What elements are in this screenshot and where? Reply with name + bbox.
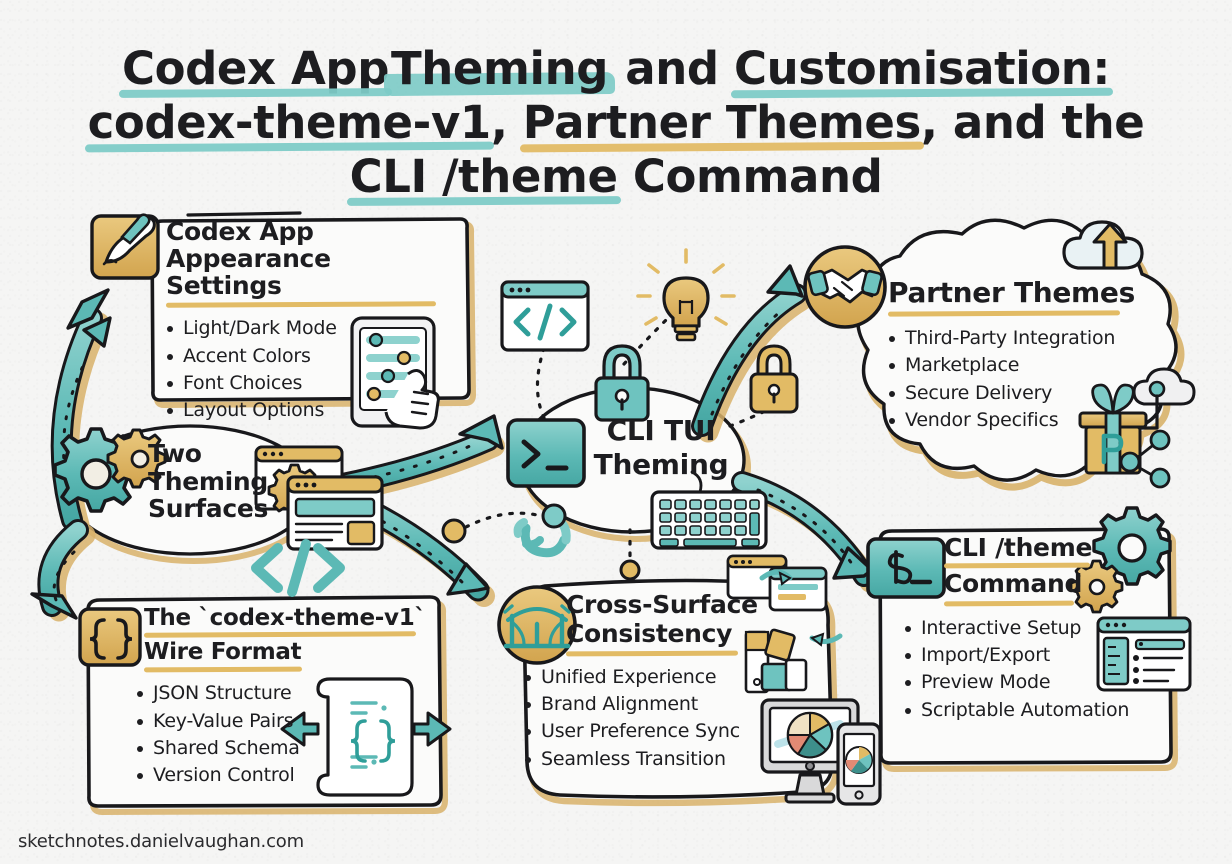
bridge-icon (499, 587, 575, 663)
cross-surface-bullets: Unified Experience Brand Alignment User … (524, 664, 816, 773)
partner-themes-node[interactable]: Partner Themes Third-Party Integration M… (888, 278, 1152, 434)
cli-theme-title-line-1: CLI /theme (944, 535, 1194, 562)
appearance-title-underline (166, 302, 436, 308)
title-highlight-theming: Theming (389, 42, 610, 96)
curly-braces-icon (80, 609, 140, 665)
title-rule (188, 213, 300, 215)
appearance-title-line-2: Appearance Settings (166, 246, 448, 300)
arrow-to-wire-format (32, 530, 85, 618)
code-window-icon (502, 282, 588, 350)
paintbrush-icon (92, 215, 158, 278)
title-line-1: Codex App Theming and Customisation: (62, 42, 1170, 96)
cli-theme-command-node[interactable]: CLI /theme Command Interactive Setup Imp… (944, 535, 1194, 724)
appearance-title-line-1: Codex App (166, 219, 448, 246)
list-item: Key-Value Pairs (136, 708, 444, 735)
cli-tui-theming-node[interactable]: CLI TUI Theming (586, 416, 736, 481)
title-seg-partner-themes: Partner Themes (523, 96, 921, 150)
wire-format-underline-2 (144, 667, 302, 673)
wire-format-bullets: JSON Structure Key-Value Pairs Shared Sc… (136, 680, 444, 789)
two-theming-surfaces-node[interactable]: Two Theming Surfaces (148, 440, 318, 523)
cross-surface-node[interactable]: Cross-Surface Consistency Unified Experi… (566, 592, 816, 773)
cli-tui-title-line-2: Theming (586, 450, 736, 481)
partner-themes-title: Partner Themes (888, 278, 1152, 308)
title-line-3: CLI /theme Command (62, 150, 1170, 204)
list-item: Secure Delivery (888, 380, 1152, 407)
title-seg-and: and (610, 42, 734, 95)
watermark: sketchnotes.danielvaughan.com (18, 831, 304, 852)
appearance-settings-node[interactable]: Codex App Appearance Settings Light/Dark… (166, 219, 448, 425)
cli-theme-underline-2 (944, 600, 1074, 606)
partner-themes-title-underline (888, 310, 1120, 316)
padlock-gold-icon (751, 346, 797, 412)
page-title: Codex App Theming and Customisation: cod… (62, 42, 1170, 204)
cli-theme-bullets: Interactive Setup Import/Export Preview … (904, 615, 1194, 724)
list-item: Import/Export (904, 642, 1194, 669)
wire-format-title-line-1: The `codex-theme-v1` (144, 606, 444, 631)
list-item: User Preference Sync (524, 718, 816, 745)
title-seg-codex-theme-v1: codex-theme-v1 (88, 96, 491, 150)
dollar-prompt-icon (868, 539, 944, 597)
list-item: Marketplace (888, 352, 1152, 379)
title-seg-comma: , (491, 96, 523, 149)
padlock-teal-icon (596, 346, 648, 420)
terminal-prompt-icon (508, 420, 584, 486)
list-item: Preview Mode (904, 669, 1194, 696)
list-item: Shared Schema (136, 735, 444, 762)
list-item: Seamless Transition (524, 746, 816, 773)
cross-surface-title-line-2: Consistency (566, 621, 816, 648)
two-surfaces-line-3: Surfaces (148, 495, 318, 523)
appearance-bullets: Light/Dark Mode Accent Colors Font Choic… (166, 315, 448, 424)
list-item: Layout Options (166, 397, 448, 424)
list-item: Third-Party Integration (888, 325, 1152, 352)
title-seg-customisation: Customisation: (734, 42, 1110, 96)
title-seg-codex-app: Codex App (122, 42, 389, 96)
partner-themes-bullets: Third-Party Integration Marketplace Secu… (888, 325, 1152, 434)
two-surfaces-line-2: Theming (148, 468, 318, 496)
lightbulb-icon (638, 250, 734, 340)
wire-format-node[interactable]: The `codex-theme-v1` Wire Format JSON St… (144, 606, 444, 790)
list-item: Version Control (136, 762, 444, 789)
list-item: JSON Structure (136, 680, 444, 707)
title-line-2: codex-theme-v1, Partner Themes, and the (62, 96, 1170, 150)
list-item: Light/Dark Mode (166, 315, 448, 342)
title-seg-and-the: , and the (921, 96, 1145, 149)
title-seg-cli-theme: CLI /theme (350, 150, 618, 204)
list-item: Vendor Specifics (888, 407, 1152, 434)
list-item: Scriptable Automation (904, 697, 1194, 724)
list-item: Brand Alignment (524, 691, 816, 718)
list-item: Accent Colors (166, 343, 448, 370)
list-item: Font Choices (166, 370, 448, 397)
cli-tui-title-line-1: CLI TUI (586, 416, 736, 447)
handshake-icon (805, 247, 885, 327)
two-surfaces-line-1: Two (148, 440, 318, 468)
title-seg-command: Command (618, 150, 883, 203)
cross-surface-underline (566, 650, 738, 656)
wire-format-title-line-2: Wire Format (144, 640, 444, 665)
list-item: Interactive Setup (904, 615, 1194, 642)
code-brackets-icon (256, 544, 340, 592)
cli-theme-underline-1 (944, 562, 1090, 568)
cross-surface-title-line-1: Cross-Surface (566, 592, 816, 619)
list-item: Unified Experience (524, 664, 816, 691)
cli-theme-title-line-2: Command (944, 571, 1194, 598)
sketchnote-canvas: Codex App Theming and Customisation: cod… (0, 0, 1232, 864)
wire-format-underline-1 (144, 631, 416, 637)
